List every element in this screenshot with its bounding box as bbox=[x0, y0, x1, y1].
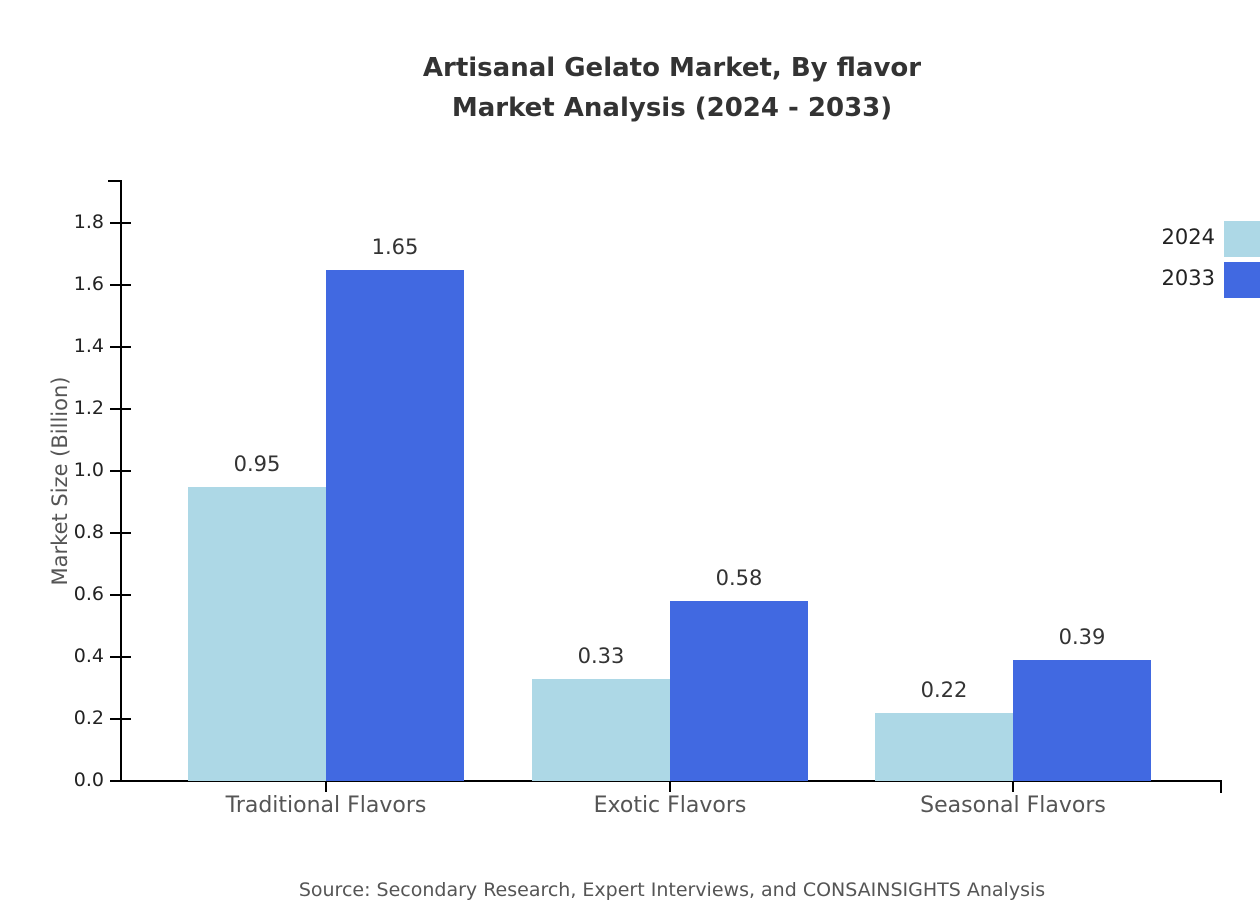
x-axis-category-label: Traditional Flavors bbox=[226, 793, 427, 819]
x-axis-tick bbox=[669, 781, 671, 792]
legend-label-2024: 2024 bbox=[1120, 227, 1215, 248]
legend-entry-2024[interactable]: 2024 bbox=[1120, 221, 1260, 257]
y-axis-tick bbox=[110, 532, 131, 534]
legend-swatch-2033 bbox=[1224, 262, 1260, 298]
y-axis-tick bbox=[110, 780, 131, 782]
x-axis-tick bbox=[1012, 781, 1014, 792]
y-axis-tick bbox=[110, 284, 131, 286]
y-axis-tick bbox=[110, 718, 131, 720]
bar-2024-traditional-flavors[interactable] bbox=[188, 487, 326, 781]
bar-value-label: 0.58 bbox=[716, 568, 763, 589]
bar-value-label: 0.39 bbox=[1059, 627, 1106, 648]
legend-label-2033: 2033 bbox=[1120, 268, 1215, 289]
y-axis-tick-label: 0.0 bbox=[74, 771, 104, 790]
bar-value-label: 0.33 bbox=[578, 646, 625, 667]
bar-value-label: 1.65 bbox=[372, 237, 419, 258]
chart-title-line-2: Market Analysis (2024 - 2033) bbox=[0, 88, 1260, 128]
y-axis-tick bbox=[110, 656, 131, 658]
legend-swatch-2024 bbox=[1224, 221, 1260, 257]
y-axis-tick bbox=[110, 222, 131, 224]
bar-value-label: 0.95 bbox=[234, 454, 281, 475]
y-axis-tick-label: 1.4 bbox=[74, 337, 104, 356]
y-axis-tick-label: 0.2 bbox=[74, 709, 104, 728]
y-axis-tick-label: 1.0 bbox=[74, 461, 104, 480]
y-axis-tick-label: 1.8 bbox=[74, 213, 104, 232]
y-axis-tick bbox=[110, 470, 131, 472]
bar-2033-exotic-flavors[interactable] bbox=[670, 601, 808, 781]
bar-2024-exotic-flavors[interactable] bbox=[532, 679, 670, 781]
chart-figure: Artisanal Gelato Market, By flavor Marke… bbox=[0, 0, 1260, 920]
y-axis-label: Market Size (Billion) bbox=[50, 331, 71, 631]
x-axis-category-label: Seasonal Flavors bbox=[920, 793, 1106, 819]
bar-2033-seasonal-flavors[interactable] bbox=[1013, 660, 1151, 781]
y-axis-spine bbox=[120, 180, 122, 782]
y-axis-tick-label: 0.6 bbox=[74, 585, 104, 604]
x-axis-right-cap bbox=[1220, 780, 1222, 793]
y-axis-tick-label: 1.6 bbox=[74, 275, 104, 294]
y-axis-tick bbox=[110, 594, 131, 596]
y-axis-top-cap bbox=[108, 180, 122, 182]
source-note: Source: Secondary Research, Expert Inter… bbox=[0, 878, 1260, 902]
y-axis-tick bbox=[110, 408, 131, 410]
bar-value-label: 0.22 bbox=[921, 680, 968, 701]
y-axis-tick-label: 0.8 bbox=[74, 523, 104, 542]
y-axis-tick-label: 0.4 bbox=[74, 647, 104, 666]
bar-2033-traditional-flavors[interactable] bbox=[326, 270, 464, 781]
x-axis-tick bbox=[325, 781, 327, 792]
chart-title-line-1: Artisanal Gelato Market, By flavor bbox=[0, 48, 1260, 88]
y-axis-tick-label: 1.2 bbox=[74, 399, 104, 418]
chart-legend: 2024 2033 bbox=[1120, 215, 1260, 305]
x-axis-category-label: Exotic Flavors bbox=[594, 793, 747, 819]
bar-2024-seasonal-flavors[interactable] bbox=[875, 713, 1013, 781]
legend-entry-2033[interactable]: 2033 bbox=[1120, 262, 1260, 298]
chart-title: Artisanal Gelato Market, By flavor Marke… bbox=[0, 48, 1260, 128]
y-axis-tick bbox=[110, 346, 131, 348]
